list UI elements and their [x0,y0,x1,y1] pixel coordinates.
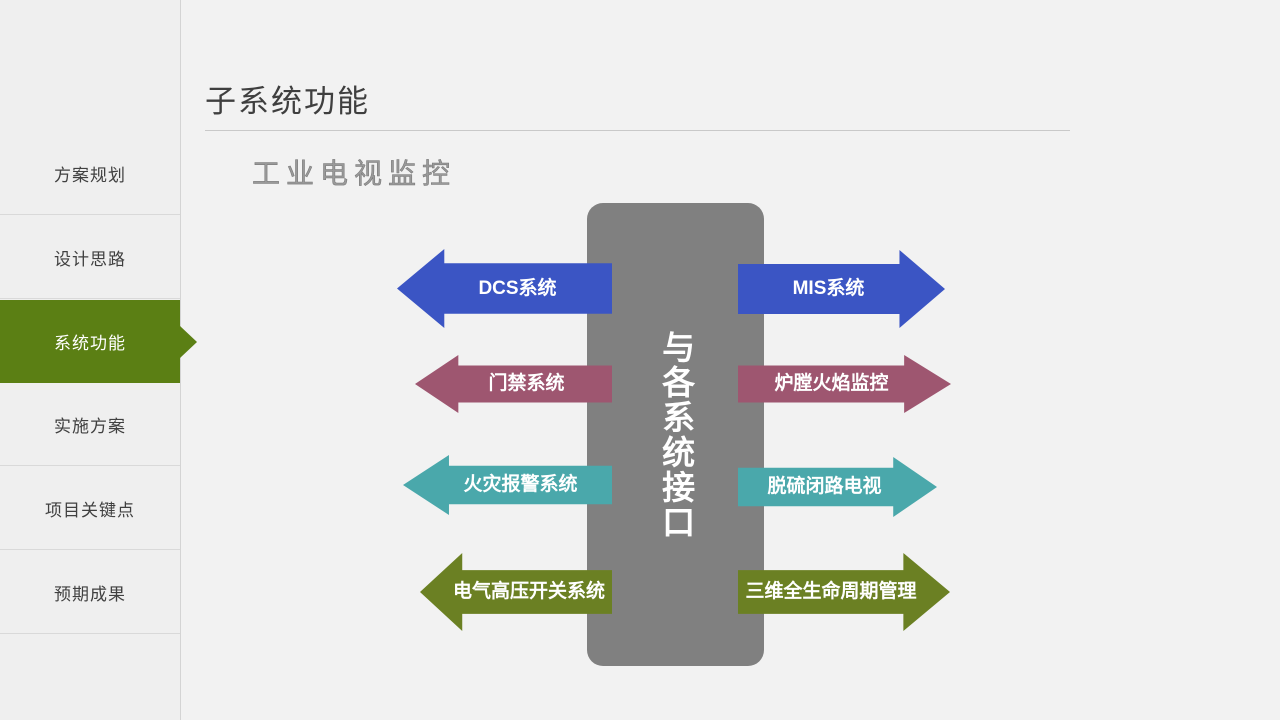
sidebar-item-label: 系统功能 [54,329,126,354]
page-title: 子系统功能 [205,76,370,121]
right-arrow-tuoliu[interactable]: 脱硫闭路电视 [738,457,937,517]
active-pointer-icon [180,326,197,358]
sidebar-item-label: 设计思路 [54,245,126,270]
arrow-label: 炉膛火焰监控 [774,372,888,396]
arrow-label: MIS系统 [793,277,865,301]
sidebar-item-xiangmu-guanjiandian[interactable]: 项目关键点 [0,467,180,550]
diagram-hub: 与各系统接口 [587,203,764,666]
sidebar-item-fangan-guihua[interactable]: 方案规划 [0,132,180,215]
arrow-label: 火灾报警系统 [463,473,577,497]
sidebar-item-shishi-fangan[interactable]: 实施方案 [0,383,180,466]
title-divider [205,130,1070,131]
sidebar-item-sheji-silu[interactable]: 设计思路 [0,216,180,299]
sidebar-item-xitong-gongneng[interactable]: 系统功能 [0,300,180,383]
arrow-label: 三维全生命周期管理 [745,580,916,604]
sidebar-item-yuqi-chengguo[interactable]: 预期成果 [0,551,180,634]
page-subtitle: 工业电视监控 [252,152,456,192]
right-arrow-mis[interactable]: MIS系统 [738,250,945,328]
sidebar-item-label: 预期成果 [54,580,126,605]
diagram-hub-label: 与各系统接口 [587,203,764,666]
sidebar-item-label: 实施方案 [54,412,126,437]
arrow-label: 电气高压开关系统 [453,580,605,604]
left-arrow-menjin[interactable]: 门禁系统 [415,355,612,413]
arrow-label: 脱硫闭路电视 [767,475,881,499]
left-arrow-dianqi[interactable]: 电气高压开关系统 [420,553,612,631]
arrow-label: DCS系统 [478,277,556,301]
sidebar-item-label: 项目关键点 [45,496,135,521]
slide-root: 方案规划 设计思路 系统功能 实施方案 项目关键点 预期成果 子系统功能 工业电… [0,0,1280,720]
left-arrow-huozai[interactable]: 火灾报警系统 [403,455,612,515]
left-arrow-dcs[interactable]: DCS系统 [397,249,612,328]
right-arrow-lutang[interactable]: 炉膛火焰监控 [738,355,951,413]
sidebar-item-label: 方案规划 [54,161,126,186]
right-arrow-sanwei[interactable]: 三维全生命周期管理 [738,553,950,631]
arrow-label: 门禁系统 [488,372,564,396]
sidebar: 方案规划 设计思路 系统功能 实施方案 项目关键点 预期成果 [0,0,181,720]
